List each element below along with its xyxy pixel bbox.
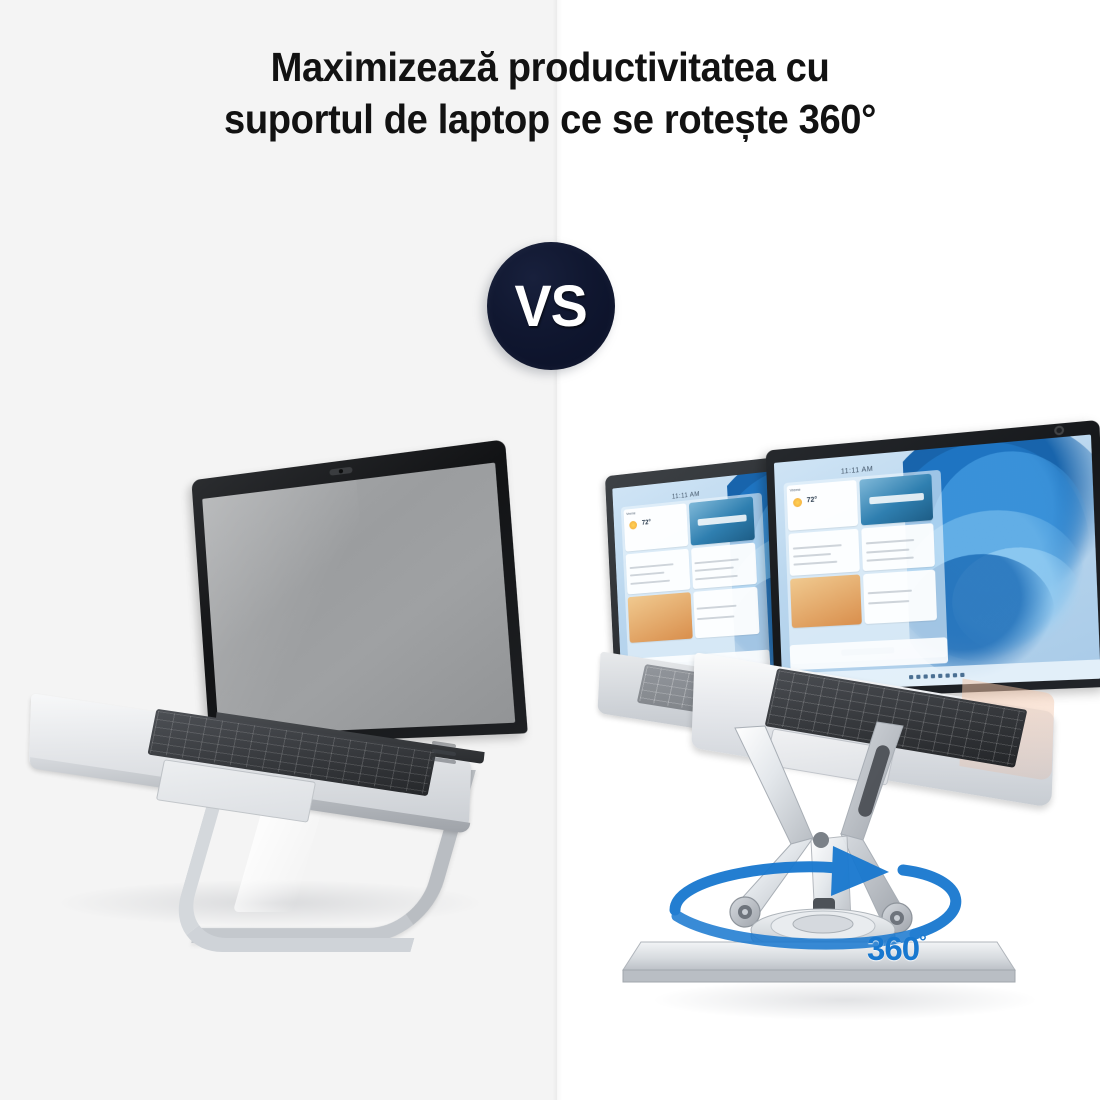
text-line [630,579,670,584]
text-line [866,557,913,562]
explorer-icon[interactable] [945,673,949,677]
widget-tasks[interactable] [693,586,760,638]
vs-badge-label: VS [515,273,587,340]
left-product-fixed-stand [20,440,540,980]
text-line [793,553,831,558]
stand-upper-arms [735,722,903,844]
chat-icon[interactable] [938,674,942,678]
widget-weather[interactable]: Vreme 72° [624,503,688,552]
text-line [792,544,841,549]
widgets-icon[interactable] [930,674,934,678]
vs-badge: VS [487,242,615,370]
text-line [696,574,738,579]
widget-weather-temp: 72° [642,520,651,527]
widget-photo-strip [869,493,924,505]
start-icon[interactable] [908,675,912,679]
headline-line-1: Maximizează productivitatea cu [39,45,1062,91]
front-laptop-lid: 11:11 AM Vreme 72° [766,420,1100,700]
headline-line-2: suportul de laptop ce se rotește 360° [39,97,1062,143]
rotation-degree-label: 360° [867,930,926,968]
text-line [695,558,739,564]
windows-desktop-front: 11:11 AM Vreme 72° [774,434,1100,691]
widget-calendar[interactable] [861,523,935,571]
left-laptop-screen [202,462,515,735]
widget-weather[interactable]: Vreme 72° [787,480,859,531]
rotating-stand-assembly [615,720,1055,1020]
store-icon[interactable] [960,673,964,677]
widget-calendar[interactable] [691,543,757,589]
widget-photo[interactable] [860,473,934,525]
widget-finance[interactable] [626,549,690,594]
task-view-icon[interactable] [923,674,927,678]
widget-picture[interactable] [790,574,862,628]
vs-badge-circle: VS [487,242,615,370]
widget-weather-title: Vreme [790,486,801,492]
widget-weather-title: Vreme [626,510,635,516]
text-line [630,563,674,569]
widget-photo[interactable] [689,496,755,546]
front-laptop-screen: 11:11 AM Vreme 72° [774,434,1100,691]
widget-weather-temp: 72° [807,497,818,505]
text-line [793,561,838,566]
search-icon[interactable] [916,675,920,679]
front-widgets-panel: Vreme 72° [784,469,948,663]
rotation-degree-value: 360 [867,930,919,967]
text-line [866,548,909,553]
left-laptop [20,440,540,860]
text-line [868,600,910,604]
screen-glare [202,480,375,736]
sun-icon [629,521,637,530]
promo-banner: Maximizează productivitatea cu suportul … [0,0,1100,1100]
widget-photo-strip [697,514,746,526]
widget-tasks[interactable] [863,570,937,624]
text-line [866,539,915,545]
split-divider [552,0,562,1100]
text-line [697,605,737,610]
sun-icon [793,498,802,508]
rotation-degree-unit: ° [919,932,926,953]
text-line [867,589,912,594]
text-line [630,572,664,577]
page-title: Maximizează productivitatea cu suportul … [0,45,1100,143]
left-laptop-lid [191,439,527,746]
rear-widgets-panel: Vreme 72° [621,492,770,676]
text-line [695,567,734,572]
right-product-rotating-stand: 11:11 AM Vreme 72° [575,430,1095,1030]
text-line [697,615,734,620]
widget-finance[interactable] [789,529,860,576]
widget-picture[interactable] [628,592,693,643]
webcam-icon [1056,428,1062,434]
edge-icon[interactable] [952,673,956,677]
